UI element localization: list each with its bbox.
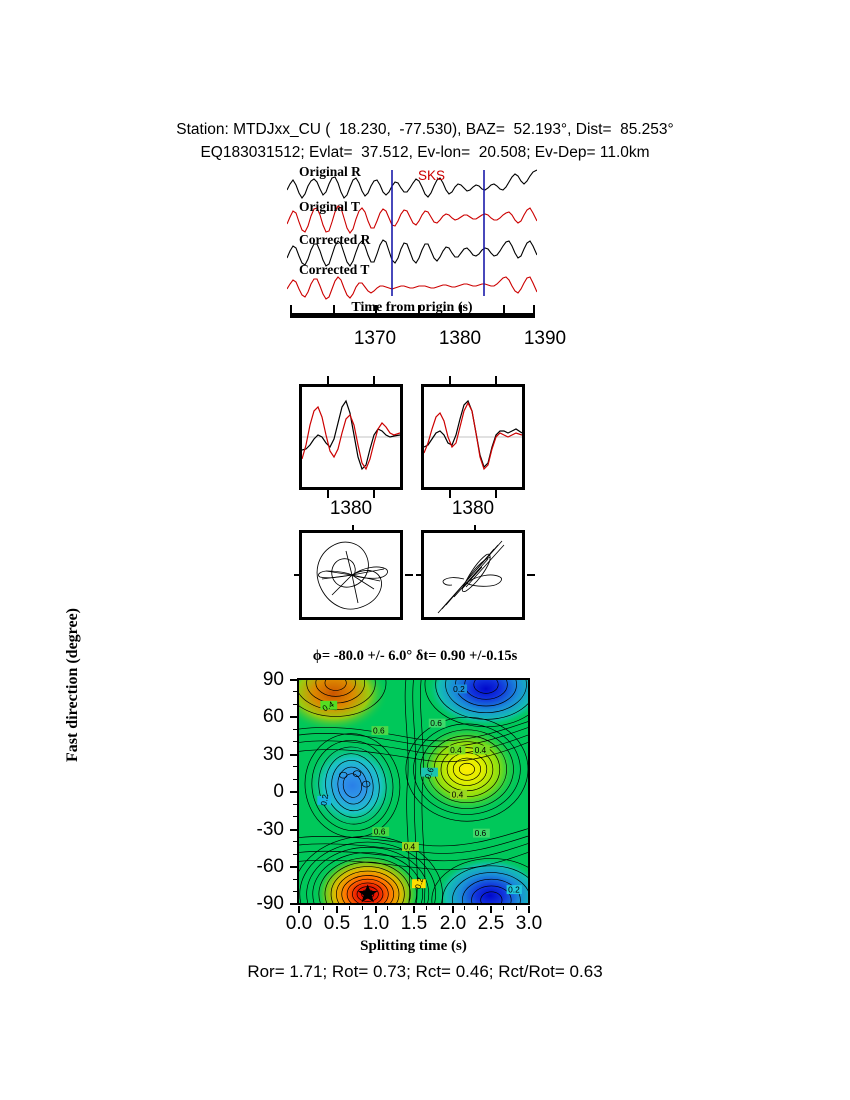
xtick-label-2-5: 2.5: [478, 913, 504, 935]
fast-slow-box-ticks-bottom: [299, 490, 403, 498]
trace-label-original-t: Original T: [299, 199, 360, 215]
ytick-neg30: -30: [232, 819, 284, 841]
corrected-box-ticks-top: [421, 376, 525, 384]
corrected-slow-trace: [424, 403, 522, 469]
xtick-minor-8: [439, 906, 440, 910]
ytick-neg60: -60: [232, 856, 284, 878]
svg-text:0.2: 0.2: [453, 685, 465, 694]
contour-ylabel: Fast direction (degree): [64, 570, 82, 800]
figure-page: Station: MTDJxx_CU ( 18.230, -77.530), B…: [0, 0, 850, 1100]
xtick-label-3-0: 3.0: [516, 913, 542, 935]
xtick-label-0-0: 0.0: [286, 913, 312, 935]
ytick-mark-neg60: [290, 866, 297, 868]
splitting-parameters-title: ϕ= -80.0 +/- 6.0° δt= 0.90 +/-0.15s: [240, 648, 590, 665]
original-hodogram-tick-top: [352, 525, 354, 533]
time-tick-1390: 1390: [524, 328, 566, 350]
xtick-minor-3: [349, 906, 350, 910]
contour-xlabel: Splitting time (s): [297, 938, 530, 955]
svg-text:0.6: 0.6: [475, 829, 487, 838]
original-hodogram-tick-right: [405, 574, 413, 576]
xtick-minor-7: [426, 906, 427, 910]
time-axis-ticklabels: 1370 1380 1390: [270, 328, 560, 354]
fast-slow-traces: [302, 387, 400, 487]
xtick-mark-0-0: [298, 906, 300, 913]
original-hodogram-path: [302, 533, 400, 617]
error-surface-contour-plot: 0.4 0.6 0.6 0.4 0.4 0.4 0.6 0.6 0.6 0.4: [297, 678, 530, 905]
xtick-mark-2-0: [452, 906, 454, 913]
fast-slow-box-ticks-top: [299, 376, 403, 384]
corrected-particle-motion: [421, 530, 525, 620]
corrected-hodogram-tick-left: [416, 574, 424, 576]
time-tick-1380: 1380: [439, 328, 481, 350]
corrected-traces: [424, 387, 522, 487]
time-axis-title: Time from origin (s): [287, 300, 537, 316]
corrected-box-xtick: 1380: [421, 498, 525, 520]
trace-corrected-t: [287, 277, 537, 299]
xtick-mark-1-0: [375, 906, 377, 913]
ytick-mark-90: [290, 679, 297, 681]
fast-slow-box-xtick: 1380: [299, 498, 403, 520]
corrected-hodogram-path: [424, 533, 522, 617]
xtick-minor-1: [310, 906, 311, 910]
ytick-neg90: -90: [232, 893, 284, 915]
svg-text:0.4: 0.4: [452, 791, 464, 800]
slow-trace: [302, 407, 400, 469]
time-tick-1370: 1370: [354, 328, 396, 350]
corrected-fast-trace: [424, 401, 522, 467]
xtick-minor-6: [400, 906, 401, 910]
svg-text:0.4: 0.4: [404, 843, 416, 852]
ytick-90: 90: [240, 669, 284, 691]
xtick-minor-9: [464, 906, 465, 910]
corrected-hodogram-tick-right: [527, 574, 535, 576]
corrected-box-ticks-bottom: [421, 490, 525, 498]
xtick-minor-4: [362, 906, 363, 910]
xtick-minor-2: [323, 906, 324, 910]
trace-label-corrected-r: Corrected R: [299, 232, 370, 248]
ytick-60: 60: [240, 706, 284, 728]
corrected-waveform-box: [421, 384, 525, 490]
quality-statistics: Ror= 1.71; Rot= 0.73; Rct= 0.46; Rct/Rot…: [0, 962, 850, 982]
svg-text:0.6: 0.6: [374, 828, 386, 837]
ytick-mark-neg30: [290, 829, 297, 831]
xtick-mark-2-5: [490, 906, 492, 913]
event-info-line: EQ183031512; Evlat= 37.512, Ev-lon= 20.5…: [0, 141, 850, 164]
waveform-panel: Original R Original T Corrected R Correc…: [287, 168, 537, 308]
xtick-minor-10: [477, 906, 478, 910]
xtick-label-2-0: 2.0: [440, 913, 466, 935]
xtick-mark-1-5: [413, 906, 415, 913]
sks-phase-label: SKS: [418, 168, 445, 183]
xtick-mark-0-5: [336, 906, 338, 913]
svg-text:0.6: 0.6: [430, 719, 442, 728]
original-hodogram-tick-left: [294, 574, 302, 576]
ytick-mark-60: [290, 716, 297, 718]
contour-surface: 0.4 0.6 0.6 0.4 0.4 0.4 0.6 0.6 0.6 0.4: [299, 680, 528, 903]
ytick-mark-0: [290, 791, 297, 793]
ytick-30: 30: [240, 744, 284, 766]
svg-text:0.4: 0.4: [475, 746, 487, 755]
xtick-mark-3-0: [528, 906, 530, 913]
original-particle-motion: [299, 530, 403, 620]
fast-slow-waveform-box: [299, 384, 403, 490]
station-info-line: Station: MTDJxx_CU ( 18.230, -77.530), B…: [0, 118, 850, 141]
fast-trace: [302, 401, 400, 469]
xtick-label-0-5: 0.5: [324, 913, 350, 935]
svg-text:0.4: 0.4: [450, 746, 462, 755]
trace-label-original-r: Original R: [299, 164, 361, 180]
trace-label-corrected-t: Corrected T: [299, 262, 369, 278]
ytick-mark-30: [290, 754, 297, 756]
xtick-label-1-0: 1.0: [363, 913, 389, 935]
corrected-hodogram-tick-top: [474, 525, 476, 533]
xtick-minor-5: [387, 906, 388, 910]
xtick-minor-11: [503, 906, 504, 910]
figure-header: Station: MTDJxx_CU ( 18.230, -77.530), B…: [0, 118, 850, 164]
svg-text:0.6: 0.6: [373, 727, 385, 736]
ytick-0: 0: [240, 781, 284, 803]
xtick-minor-12: [516, 906, 517, 910]
xtick-label-1-5: 1.5: [401, 913, 427, 935]
ytick-mark-neg90: [290, 903, 297, 905]
svg-text:0.2: 0.2: [508, 886, 520, 895]
